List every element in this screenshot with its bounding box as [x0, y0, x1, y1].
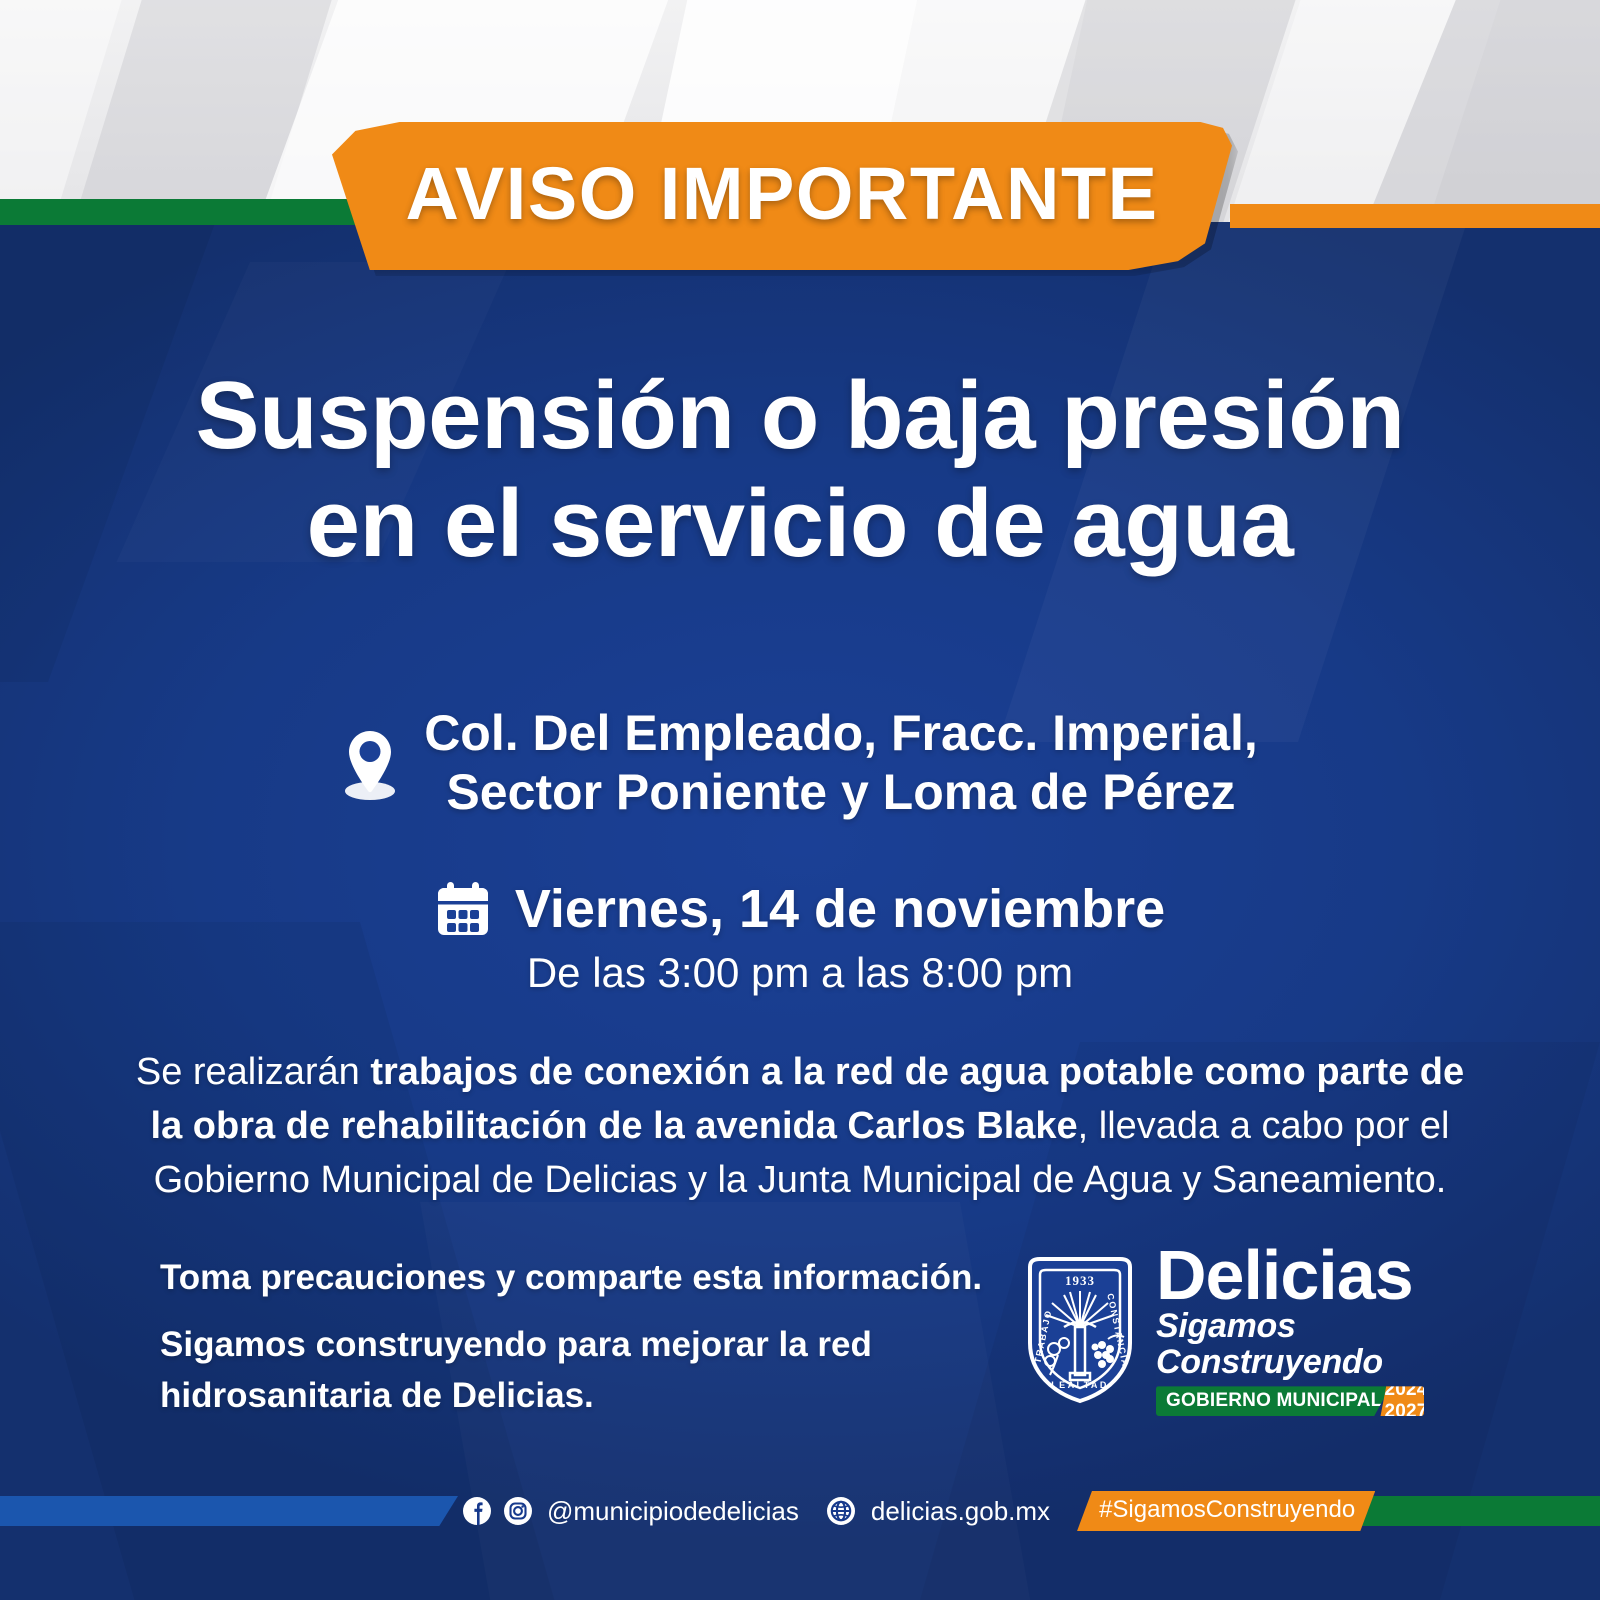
page-title: Suspensión o baja presión en el servicio…	[0, 362, 1600, 579]
content-area: Suspensión o baja presión en el servicio…	[0, 222, 1600, 1600]
logo-name: Delicias	[1156, 1243, 1440, 1307]
hashtag-tag: #SigamosConstruyendo	[1077, 1491, 1375, 1531]
headline-line-1: Suspensión o baja presión	[90, 362, 1510, 470]
date-text: Viernes, 14 de noviembre	[515, 882, 1165, 936]
social-handle[interactable]: @municipiodedelicias	[547, 1498, 799, 1524]
location-text: Col. Del Empleado, Fracc. Imperial, Sect…	[424, 704, 1258, 822]
logo-wordmark: Delicias Sigamos Construyendo GOBIERNO M…	[1156, 1243, 1440, 1417]
headline-line-2: en el servicio de agua	[90, 470, 1510, 578]
calendar-icon	[435, 880, 491, 938]
website-link[interactable]: delicias.gob.mx	[871, 1498, 1050, 1524]
poster-canvas: AVISO IMPORTANTE Suspensión o baja presi…	[0, 0, 1600, 1600]
call-to-action: Toma precauciones y comparte esta inform…	[160, 1252, 990, 1421]
map-pin-icon	[342, 725, 398, 801]
instagram-icon[interactable]	[503, 1496, 533, 1526]
cta-line-1: Toma precauciones y comparte esta inform…	[160, 1252, 990, 1303]
globe-icon[interactable]	[826, 1496, 856, 1526]
cta-line-2: Sigamos construyendo para mejorar la red…	[160, 1319, 990, 1421]
date-row: Viernes, 14 de noviembre	[0, 880, 1600, 938]
footer: @municipiodedelicias delicias.gob.mx #Si…	[0, 1478, 1600, 1540]
location-row: Col. Del Empleado, Fracc. Imperial, Sect…	[0, 704, 1600, 822]
location-line-2: Sector Poniente y Loma de Pérez	[446, 764, 1235, 820]
location-line-1: Col. Del Empleado, Fracc. Imperial,	[424, 705, 1258, 761]
svg-text:1933: 1933	[1065, 1273, 1095, 1288]
logo-tagline: Sigamos Construyendo	[1156, 1309, 1440, 1380]
footer-links: @municipiodedelicias delicias.gob.mx #Si…	[462, 1488, 1375, 1534]
logo-badge: GOBIERNO MUNICIPAL 2024-2027	[1156, 1386, 1424, 1416]
footer-left-bar	[0, 1496, 458, 1526]
time-text: De las 3:00 pm a las 8:00 pm	[0, 952, 1600, 994]
city-crest-icon: 1933	[1020, 1255, 1140, 1405]
facebook-icon[interactable]	[462, 1496, 492, 1526]
banner-label: AVISO IMPORTANTE	[405, 157, 1158, 231]
body-paragraph: Se realizarán trabajos de conexión a la …	[120, 1046, 1480, 1208]
badge-gobierno: GOBIERNO MUNICIPAL	[1156, 1386, 1390, 1416]
svg-text:LEALTAD: LEALTAD	[1051, 1380, 1108, 1390]
delicias-logo: 1933	[1020, 1242, 1440, 1417]
body-part-1: Se realizarán	[136, 1051, 370, 1093]
badge-years: 2024-2027	[1380, 1386, 1424, 1416]
date-block: Viernes, 14 de noviembre De las 3:00 pm …	[0, 880, 1600, 994]
